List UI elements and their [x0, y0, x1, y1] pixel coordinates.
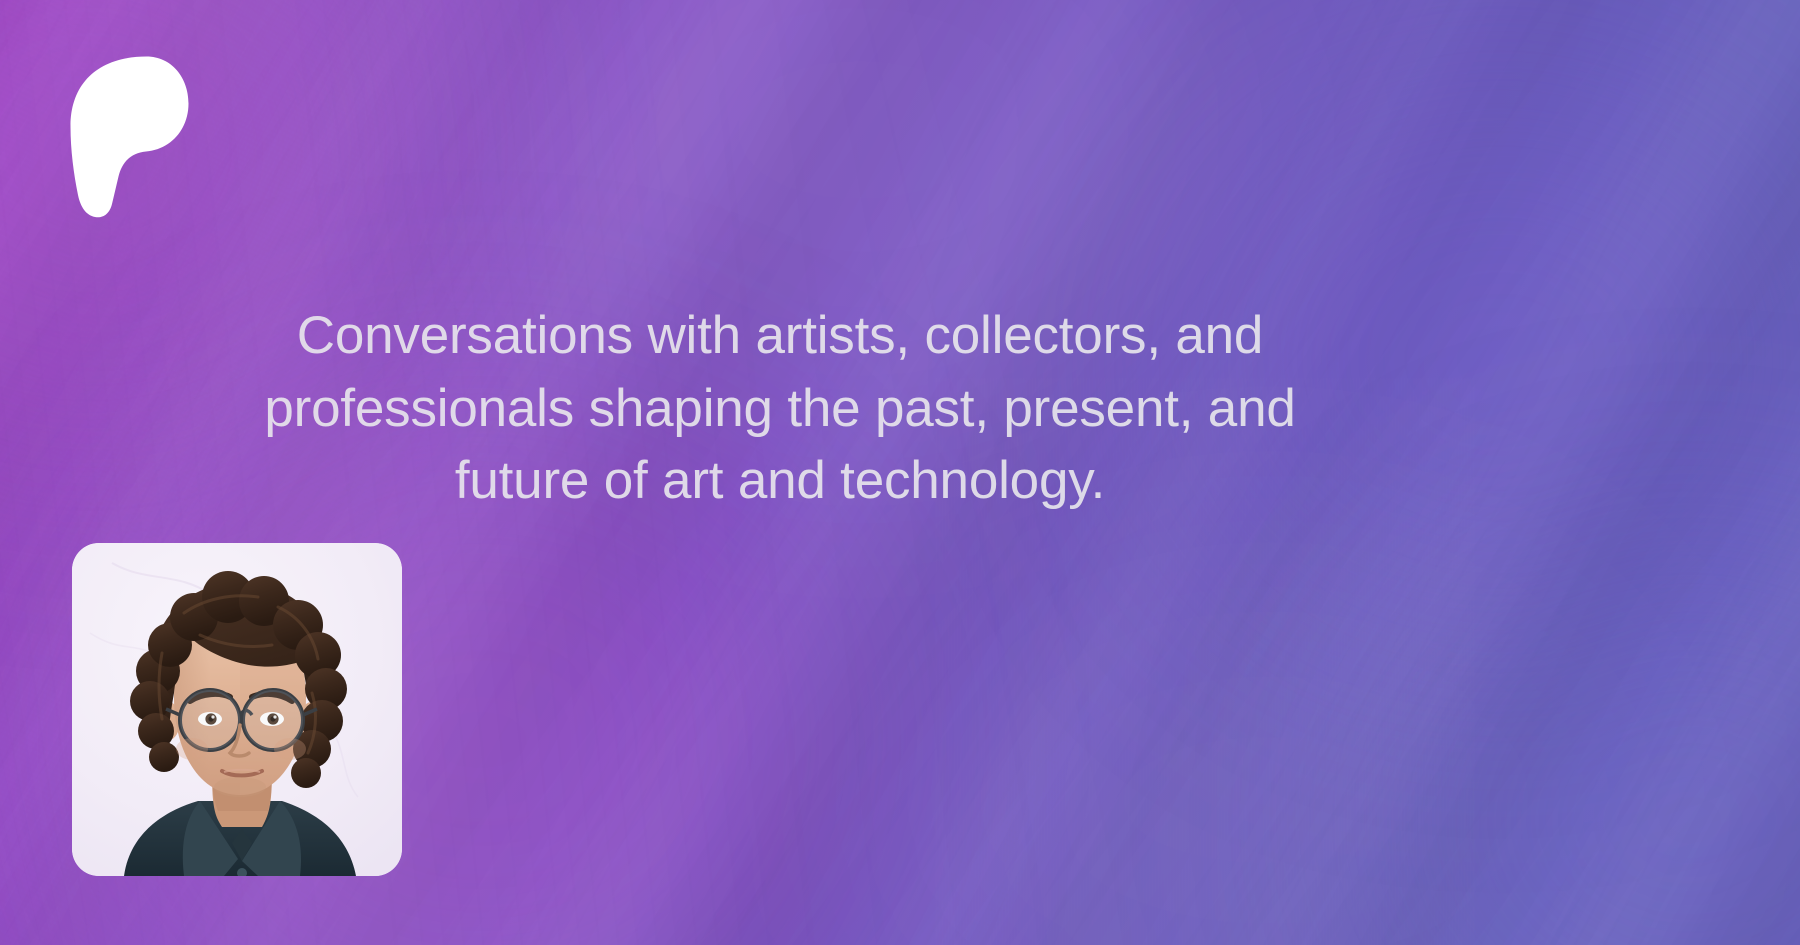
cover-canvas: Conversations with artists, collectors, … [0, 0, 1800, 945]
page-title: Conversations with artists, collectors, … [190, 300, 1370, 518]
patreon-logo-icon [68, 52, 190, 220]
avatar [72, 543, 402, 876]
host-portrait-card [72, 543, 402, 876]
